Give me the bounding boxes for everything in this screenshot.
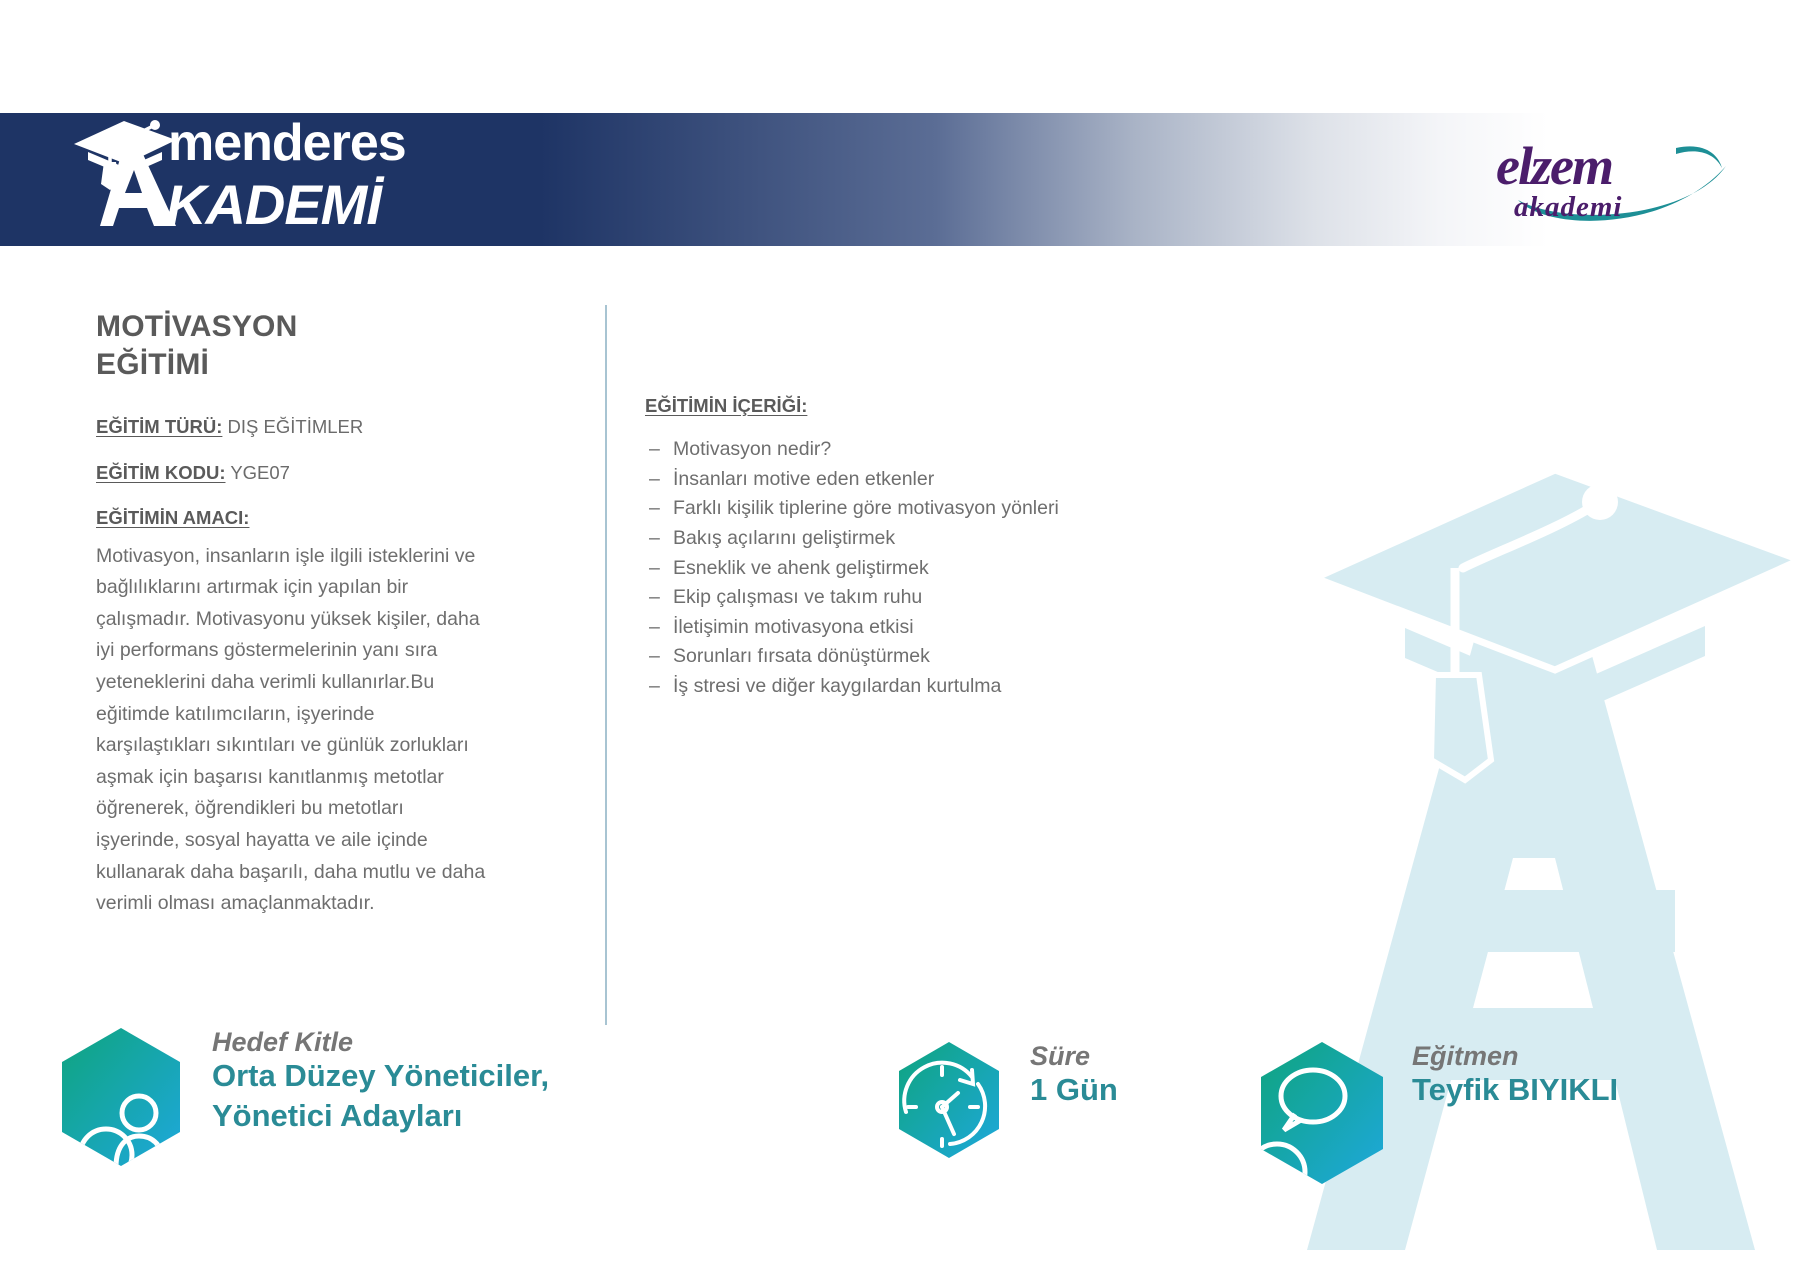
speech-bubble-icon: [1255, 1040, 1390, 1186]
people-icon: [56, 1026, 186, 1168]
content-list-item: Ekip çalışması ve takım ruhu: [645, 583, 1205, 613]
audience-value: Orta Düzey Yöneticiler, Yönetici Adaylar…: [212, 1056, 592, 1135]
course-content-label: EĞİTİMİN İÇERİĞİ:: [645, 395, 807, 417]
duration-caption: Süre: [1030, 1042, 1118, 1070]
content-list-item: İnsanları motive eden etkenler: [645, 465, 1205, 495]
content-list-item: Bakış açılarını geliştirmek: [645, 524, 1205, 554]
trainer-value: Teyfik BIYIKLI: [1412, 1070, 1618, 1110]
course-code-label: EĞİTİM KODU:: [96, 462, 226, 483]
column-divider: [605, 305, 607, 1025]
course-type-value: DIŞ EĞİTİMLER: [228, 416, 364, 437]
content-list-item: İş stresi ve diğer kaygılardan kurtulma: [645, 672, 1205, 702]
course-content-list: Motivasyon nedir?İnsanları motive eden e…: [645, 435, 1205, 702]
audience-caption: Hedef Kitle: [212, 1028, 592, 1056]
course-purpose-block: EĞİTİMİN AMACI: Motivasyon, insanların i…: [96, 507, 546, 920]
content-list-item: İletişimin motivasyona etkisi: [645, 613, 1205, 643]
course-code-value: YGE07: [230, 462, 290, 483]
trainer-badge: Eğitmen Teyfik BIYIKLI: [1255, 1040, 1618, 1186]
content-list-item: Motivasyon nedir?: [645, 435, 1205, 465]
course-code-row: EĞİTİM KODU: YGE07: [96, 461, 546, 486]
content-list-item: Farklı kişilik tiplerine göre motivasyon…: [645, 494, 1205, 524]
course-purpose-text: Motivasyon, insanların işle ilgili istek…: [96, 541, 490, 920]
course-sheet: menderes KADEMİ elzem akademi MOTİVASYON…: [0, 0, 1800, 1273]
clock-icon: [894, 1040, 1004, 1160]
trainer-caption: Eğitmen: [1412, 1042, 1618, 1070]
duration-value: 1 Gün: [1030, 1070, 1118, 1110]
course-type-row: EĞİTİM TÜRÜ: DIŞ EĞİTİMLER: [96, 415, 546, 440]
audience-badge: Hedef Kitle Orta Düzey Yöneticiler, Yöne…: [56, 1026, 592, 1168]
right-column: EĞİTİMİN İÇERİĞİ: Motivasyon nedir?İnsan…: [645, 395, 1205, 702]
content-list-item: Esneklik ve ahenk geliştirmek: [645, 554, 1205, 584]
left-column: MOTİVASYONEĞİTİMİ EĞİTİM TÜRÜ: DIŞ EĞİTİ…: [96, 308, 546, 920]
duration-badge: Süre 1 Gün: [894, 1040, 1118, 1160]
course-type-label: EĞİTİM TÜRÜ:: [96, 416, 222, 437]
course-purpose-label: EĞİTİMİN AMACI:: [96, 507, 249, 529]
page-title: MOTİVASYONEĞİTİMİ: [96, 308, 546, 385]
content-list-item: Sorunları fırsata dönüştürmek: [645, 642, 1205, 672]
